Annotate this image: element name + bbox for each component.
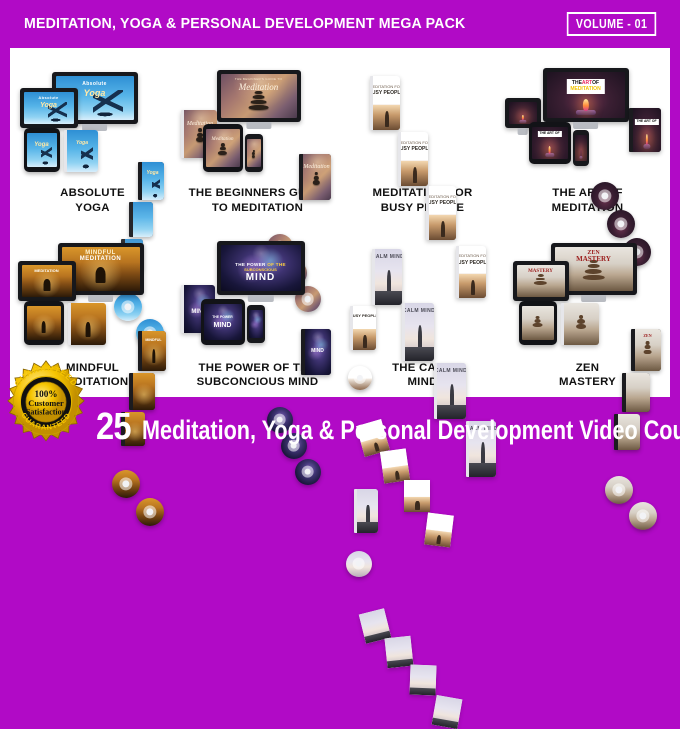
mockup-dvd-case: ZEN — [631, 329, 661, 371]
product-mockup-mindful-meditation: MINDFUL MEDITATION MEDITATION — [10, 231, 175, 357]
mockup-tablet — [519, 301, 557, 345]
mockup-book: MEDITATION FOR BUSY PEOPLE — [398, 132, 428, 186]
course-count: 25 — [96, 408, 131, 446]
product-card-absolute-yoga[interactable]: Absolute Yoga Absolute Yoga — [10, 48, 175, 223]
product-mockup-calm-mind: CALM MIND CALM MIND CALM MIND — [340, 231, 505, 357]
product-mockup-subconscious-mind: THE POWER OF THE SUBCONSCIOUS MIND MIND — [175, 231, 340, 357]
seal-line2: Satisfaction — [26, 408, 67, 417]
product-title: ABSOLUTE YOGA — [60, 186, 125, 215]
mockup-disc — [295, 459, 321, 485]
mockup-dvd-case: MIND — [301, 329, 331, 375]
guarantee-seal-icon: GUARANTEED GUARANTEED 100% Customer Sati… — [4, 360, 88, 444]
mockup-report — [424, 513, 454, 548]
mockup-disc — [112, 470, 140, 498]
product-card-beginners-guide-to-meditation[interactable]: THE BEGINNER'S GUIDE TO Meditation Medit… — [175, 48, 340, 223]
mockup-book: CALM MIND — [402, 303, 434, 361]
page-title: MEDITATION, YOGA & PERSONAL DEVELOPMENT … — [24, 16, 465, 32]
mockup-report — [404, 480, 430, 512]
mockup-laptop: MEDITATION — [18, 261, 76, 301]
product-card-the-calm-mind[interactable]: CALM MIND CALM MIND CALM MIND — [340, 223, 505, 398]
product-mockup-busy-people: MEDITATION FOR BUSY PEOPLE MEDITATION FO… — [340, 56, 505, 182]
product-mockup-art-of-meditation: THEARTOFMEDITATION THE ART OF — [505, 56, 670, 182]
product-mockup-absolute-yoga: Absolute Yoga Absolute Yoga — [10, 56, 175, 182]
product-card-zen-mastery[interactable]: ZEN MASTERY MASTERY — [505, 223, 670, 398]
mockup-book — [354, 489, 378, 533]
mockup-book: MEDITATION FOR BUSY PEOPLE — [370, 76, 400, 130]
mockup-tablet: Meditation — [203, 124, 243, 172]
product-card-the-art-of-meditation[interactable]: THEARTOFMEDITATION THE ART OF — [505, 48, 670, 223]
mockup-tablet: THE POWER MIND — [201, 299, 245, 345]
product-title: ZEN MASTERY — [559, 361, 616, 390]
mockup-disc — [136, 498, 164, 526]
mockup-disc — [629, 502, 657, 530]
volume-badge: VOLUME - 01 — [567, 12, 656, 36]
mockup-tablet-white — [68, 303, 106, 345]
product-title: MEDITATION FOR BUSY PEOPLE — [373, 186, 473, 215]
mega-pack-graphic: MEDITATION, YOGA & PERSONAL DEVELOPMENT … — [0, 0, 680, 457]
mockup-phone — [247, 305, 265, 343]
mockup-report — [384, 635, 413, 668]
mockup-monitor: THE POWER OF THE SUBCONSCIOUS MIND — [217, 241, 305, 295]
mockup-report — [431, 694, 462, 728]
mockup-tablet: THE ART OF — [529, 122, 571, 164]
banner-text: 25 Meditation, Yoga & Personal Developme… — [96, 408, 680, 446]
mockup-disc — [591, 182, 619, 210]
mockup-dvd-case: THE ART OF — [629, 108, 661, 152]
product-mockup-zen-mastery: ZEN MASTERY MASTERY — [505, 231, 670, 357]
mockup-phone — [573, 130, 589, 166]
products-panel: Absolute Yoga Absolute Yoga — [10, 48, 670, 397]
product-grid: Absolute Yoga Absolute Yoga — [10, 48, 670, 397]
mockup-laptop: Absolute Yoga — [20, 88, 78, 128]
mockup-tablet: Yoga — [24, 128, 60, 172]
seal-line1: Customer — [28, 399, 64, 408]
mockup-disc — [605, 476, 633, 504]
mockup-report — [409, 664, 436, 695]
mockup-dvd-case: Yoga — [138, 162, 164, 200]
mockup-disc — [346, 551, 372, 577]
banner-label: Meditation, Yoga & Personal Development … — [142, 417, 680, 444]
mockup-monitor: THEARTOFMEDITATION — [543, 68, 629, 122]
mockup-tablet — [24, 301, 64, 345]
header-bar: MEDITATION, YOGA & PERSONAL DEVELOPMENT … — [0, 0, 680, 48]
bottom-banner: 25 Meditation, Yoga & Personal Developme… — [0, 397, 680, 457]
mockup-laptop: MASTERY — [513, 261, 569, 301]
mockup-tablet-white: Yoga — [64, 130, 98, 172]
seal-percent: 100% — [34, 389, 57, 399]
mockup-book: CALM MIND — [372, 249, 402, 305]
mockup-dvd-case: Meditation — [299, 154, 331, 200]
mockup-tablet-white — [561, 303, 599, 345]
product-card-meditation-for-busy-people[interactable]: MEDITATION FOR BUSY PEOPLE MEDITATION FO… — [340, 48, 505, 223]
mockup-dvd-case: MINDFUL — [138, 331, 166, 371]
product-mockup-beginners-guide: THE BEGINNER'S GUIDE TO Meditation Medit… — [175, 56, 340, 182]
mockup-phone — [245, 134, 263, 172]
mockup-monitor: THE BEGINNER'S GUIDE TO Meditation — [217, 70, 301, 122]
product-card-power-of-the-subconcious-mind[interactable]: THE POWER OF THE SUBCONSCIOUS MIND MIND — [175, 223, 340, 398]
